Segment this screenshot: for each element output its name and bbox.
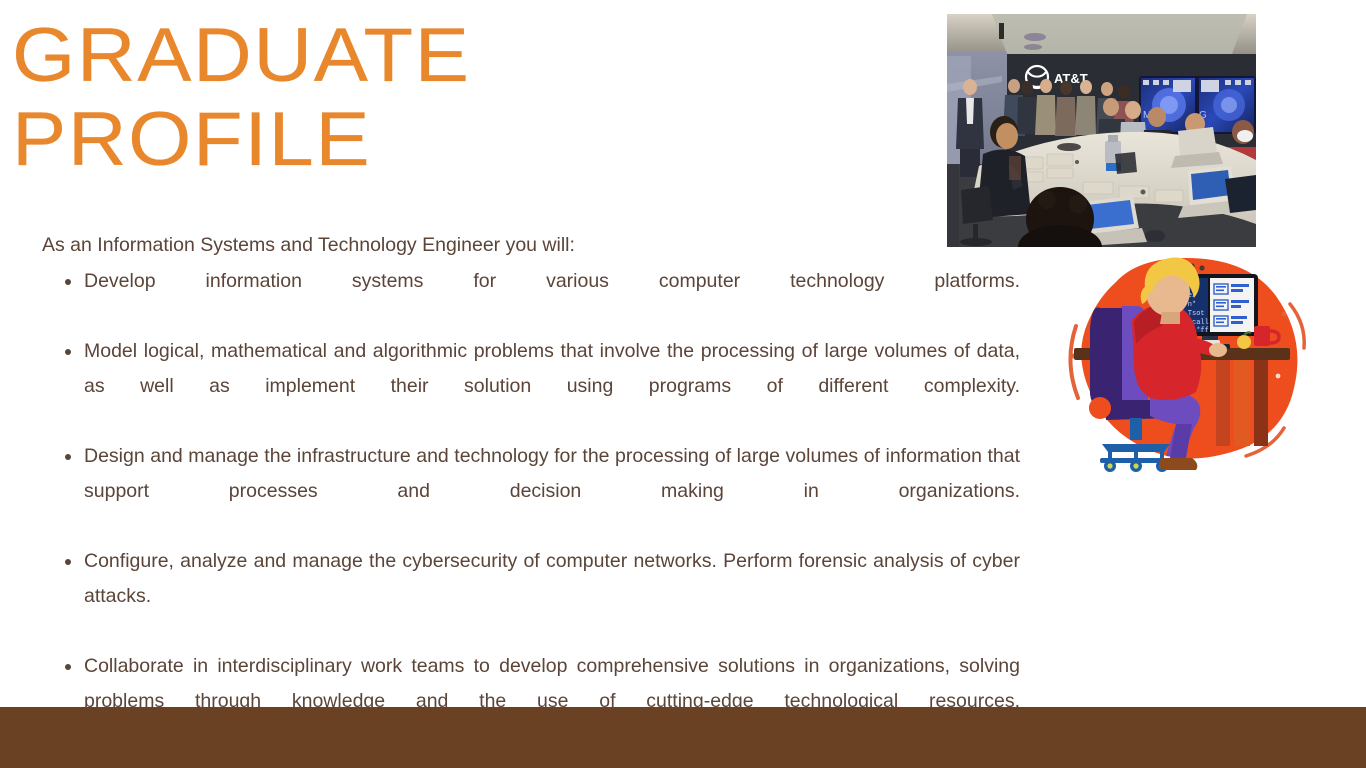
list-item-text: Configure, analyze and manage the cybers… [84, 544, 1020, 649]
list-item-text: Design and manage the infrastructure and… [84, 439, 1020, 544]
footer-bar [0, 707, 1366, 768]
list-item: Develop information systems for various … [42, 264, 1020, 334]
list-item: Configure, analyze and manage the cybers… [42, 544, 1020, 649]
classroom-visit-photo: AT&T MO G [947, 14, 1256, 247]
graduate-profile-body: As an Information Systems and Technology… [42, 228, 1020, 754]
list-item: Design and manage the infrastructure and… [42, 439, 1020, 544]
competency-bullet-list: Develop information systems for various … [42, 264, 1020, 754]
page-title: GRADUATE PROFILE [12, 14, 975, 182]
list-item-text: Develop information systems for various … [84, 264, 1020, 334]
programmer-at-desk-illustration: (r))nn hrafe/ *n*7n* ees Tsot rish call … [1058, 252, 1326, 484]
list-item-text: Model logical, mathematical and algorith… [84, 334, 1020, 439]
list-item: Model logical, mathematical and algorith… [42, 334, 1020, 439]
intro-text: As an Information Systems and Technology… [42, 228, 1020, 263]
